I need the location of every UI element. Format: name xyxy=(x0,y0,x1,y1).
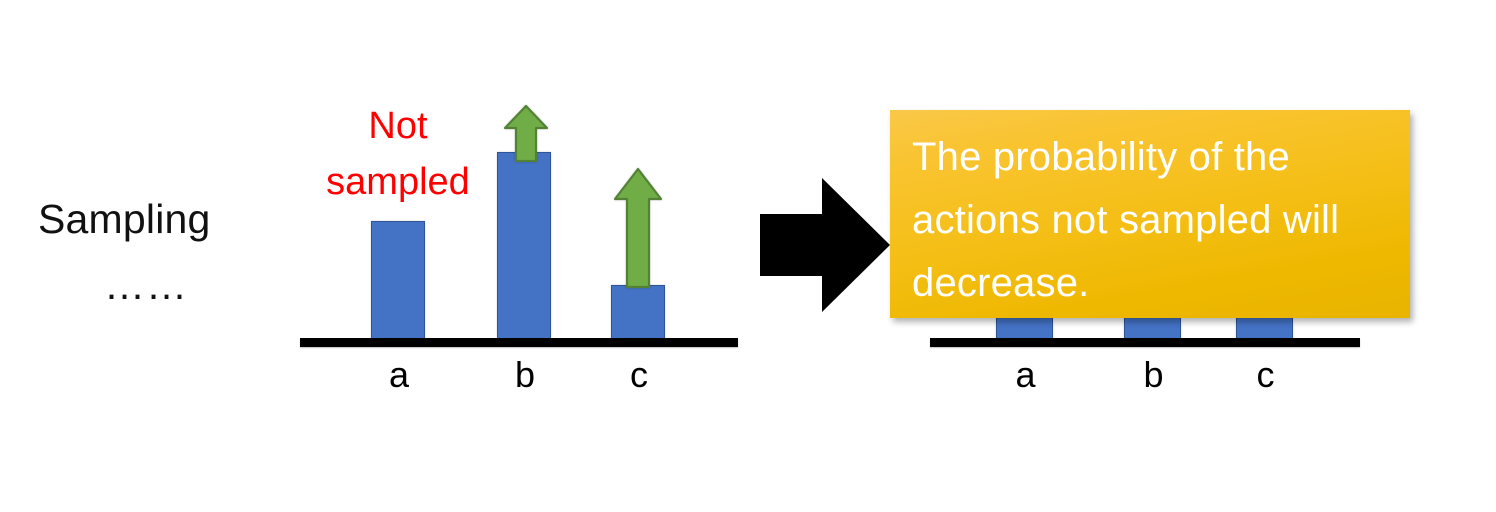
bar-c-before xyxy=(611,285,665,341)
sampling-ellipsis: …… xyxy=(104,262,188,309)
increase-arrow-b-icon xyxy=(503,104,549,162)
slide-canvas: Sampling …… Not sampled a b c a xyxy=(0,0,1496,512)
cat-label-c-before: c xyxy=(612,357,666,393)
not-sampled-annotation: Not sampled xyxy=(308,98,488,210)
cat-label-a-after: a xyxy=(997,357,1054,393)
axis-baseline-before xyxy=(300,338,738,347)
increase-arrow-c-icon xyxy=(613,167,663,289)
sampling-label: Sampling xyxy=(38,196,211,243)
cat-label-b-before: b xyxy=(498,357,552,393)
axis-baseline-after xyxy=(930,338,1360,347)
cat-label-c-after: c xyxy=(1237,357,1294,393)
bar-a-before xyxy=(371,221,425,341)
callout-box: The probability of the actions not sampl… xyxy=(890,110,1410,318)
right-arrow-icon xyxy=(760,178,890,312)
cat-label-a-before: a xyxy=(372,357,426,393)
cat-label-b-after: b xyxy=(1125,357,1182,393)
callout-text: The probability of the actions not sampl… xyxy=(912,126,1388,316)
bar-b-before xyxy=(497,152,551,341)
